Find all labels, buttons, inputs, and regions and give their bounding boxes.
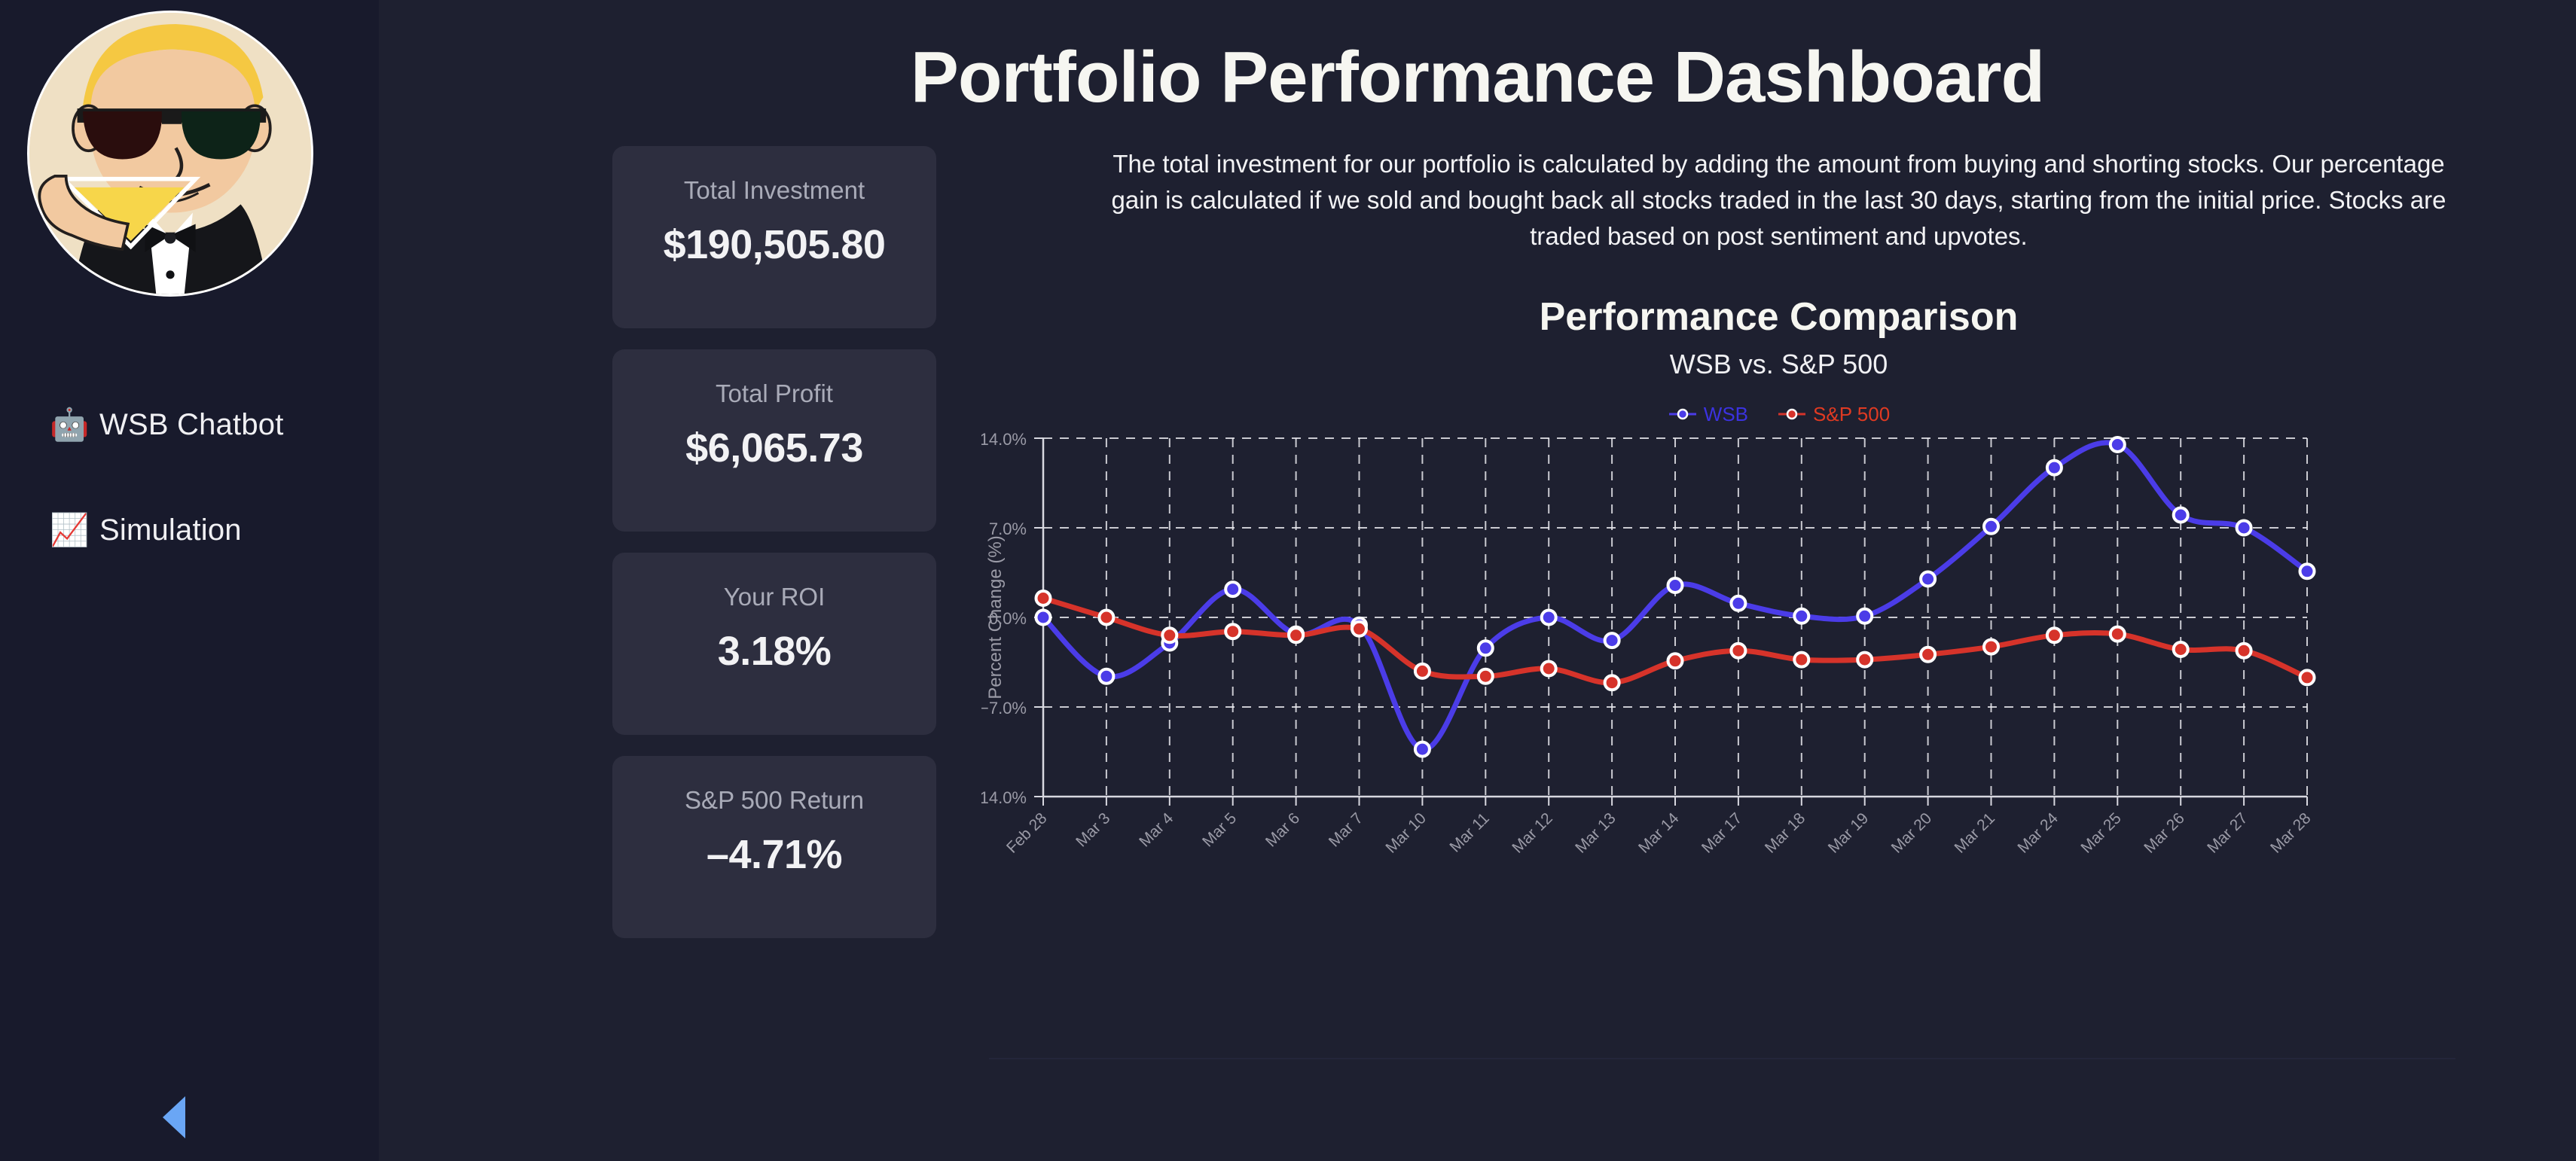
- svg-text:Mar 27: Mar 27: [2204, 809, 2251, 856]
- svg-text:14.0%: 14.0%: [981, 430, 1027, 449]
- portfolio-description: The total investment for our portfolio i…: [1105, 146, 2453, 255]
- chart-canvas: 14.0%7.0%0.0%−7.0%−14.0%Feb 28Mar 3Mar 4…: [981, 429, 2330, 956]
- sidebar-item-label: Simulation: [99, 513, 242, 547]
- dashboard-app: 🤖 WSB Chatbot 📈 Simulation Portfolio Per…: [0, 0, 2576, 1161]
- svg-text:7.0%: 7.0%: [989, 520, 1027, 538]
- svg-text:Mar 21: Mar 21: [1952, 809, 1998, 856]
- page-title: Portfolio Performance Dashboard: [379, 0, 2576, 119]
- svg-text:Mar 13: Mar 13: [1572, 809, 1619, 856]
- svg-text:Mar 11: Mar 11: [1446, 809, 1492, 855]
- metric-value: –4.71%: [612, 831, 936, 878]
- metric-card-sp500-return: S&P 500 Return –4.71%: [612, 756, 936, 938]
- metric-value: $190,505.80: [612, 221, 936, 268]
- svg-text:Mar 18: Mar 18: [1762, 809, 1808, 856]
- svg-text:Mar 4: Mar 4: [1136, 809, 1177, 850]
- svg-text:Mar 6: Mar 6: [1262, 809, 1303, 850]
- sidebar-item-simulation[interactable]: 📈 Simulation: [0, 504, 379, 556]
- metric-card-total-investment: Total Investment $190,505.80: [612, 146, 936, 328]
- metric-value: 3.18%: [612, 628, 936, 675]
- svg-text:Feb 28: Feb 28: [1003, 809, 1051, 857]
- metric-cards: Total Investment $190,505.80 Total Profi…: [612, 146, 936, 960]
- metric-value: $6,065.73: [612, 425, 936, 471]
- metric-label: Total Profit: [612, 379, 936, 408]
- svg-text:Mar 19: Mar 19: [1825, 809, 1872, 856]
- sidebar: 🤖 WSB Chatbot 📈 Simulation: [0, 0, 379, 1161]
- chart-title: Performance Comparison: [981, 294, 2576, 340]
- content-row: Total Investment $190,505.80 Total Profi…: [379, 119, 2576, 960]
- svg-text:Mar 12: Mar 12: [1509, 809, 1555, 856]
- svg-text:Mar 5: Mar 5: [1199, 809, 1240, 850]
- svg-text:Mar 28: Mar 28: [2267, 809, 2314, 856]
- svg-text:Mar 3: Mar 3: [1073, 809, 1113, 850]
- svg-text:Mar 10: Mar 10: [1382, 809, 1429, 856]
- svg-text:−14.0%: −14.0%: [981, 788, 1027, 807]
- legend-item-wsb[interactable]: WSB: [1668, 403, 1748, 426]
- metric-label: Your ROI: [612, 583, 936, 611]
- section-divider: [989, 1058, 2455, 1059]
- svg-text:Mar 17: Mar 17: [1699, 809, 1745, 856]
- robot-icon: 🤖: [50, 409, 90, 440]
- metric-card-total-profit: Total Profit $6,065.73: [612, 349, 936, 532]
- svg-text:Percent Change (%): Percent Change (%): [985, 535, 1006, 699]
- svg-text:Mar 14: Mar 14: [1635, 809, 1683, 857]
- legend-label: WSB: [1704, 403, 1748, 426]
- svg-text:Mar 7: Mar 7: [1326, 809, 1366, 850]
- legend-label: S&P 500: [1813, 403, 1890, 426]
- sp500-legend-marker-icon: [1777, 407, 1807, 421]
- main-content: Portfolio Performance Dashboard Total In…: [379, 0, 2576, 1161]
- chart-subtitle: WSB vs. S&P 500: [981, 349, 2576, 380]
- wallstreetbets-logo: [27, 11, 313, 297]
- metric-label: S&P 500 Return: [612, 786, 936, 815]
- collapse-sidebar-icon[interactable]: [163, 1096, 185, 1138]
- chart-increasing-icon: 📈: [50, 514, 90, 546]
- legend-item-sp500[interactable]: S&P 500: [1777, 403, 1890, 426]
- metric-card-your-roi: Your ROI 3.18%: [612, 553, 936, 735]
- sidebar-item-label: WSB Chatbot: [99, 408, 284, 442]
- svg-text:Mar 26: Mar 26: [2141, 809, 2187, 856]
- svg-text:Mar 25: Mar 25: [2077, 809, 2124, 856]
- logo-illustration: [29, 13, 311, 294]
- sidebar-item-wsb-chatbot[interactable]: 🤖 WSB Chatbot: [0, 399, 379, 450]
- svg-text:−7.0%: −7.0%: [981, 699, 1027, 718]
- metric-label: Total Investment: [612, 176, 936, 205]
- chart-column: The total investment for our portfolio i…: [936, 146, 2576, 960]
- svg-text:Mar 24: Mar 24: [2014, 809, 2062, 857]
- performance-comparison-chart[interactable]: 14.0%7.0%0.0%−7.0%−14.0%Feb 28Mar 3Mar 4…: [981, 429, 2576, 960]
- wsb-legend-marker-icon: [1668, 407, 1698, 421]
- chart-legend: WSB S&P 500: [981, 403, 2576, 426]
- sidebar-nav: 🤖 WSB Chatbot 📈 Simulation: [0, 399, 379, 610]
- svg-text:Mar 20: Mar 20: [1888, 809, 1935, 856]
